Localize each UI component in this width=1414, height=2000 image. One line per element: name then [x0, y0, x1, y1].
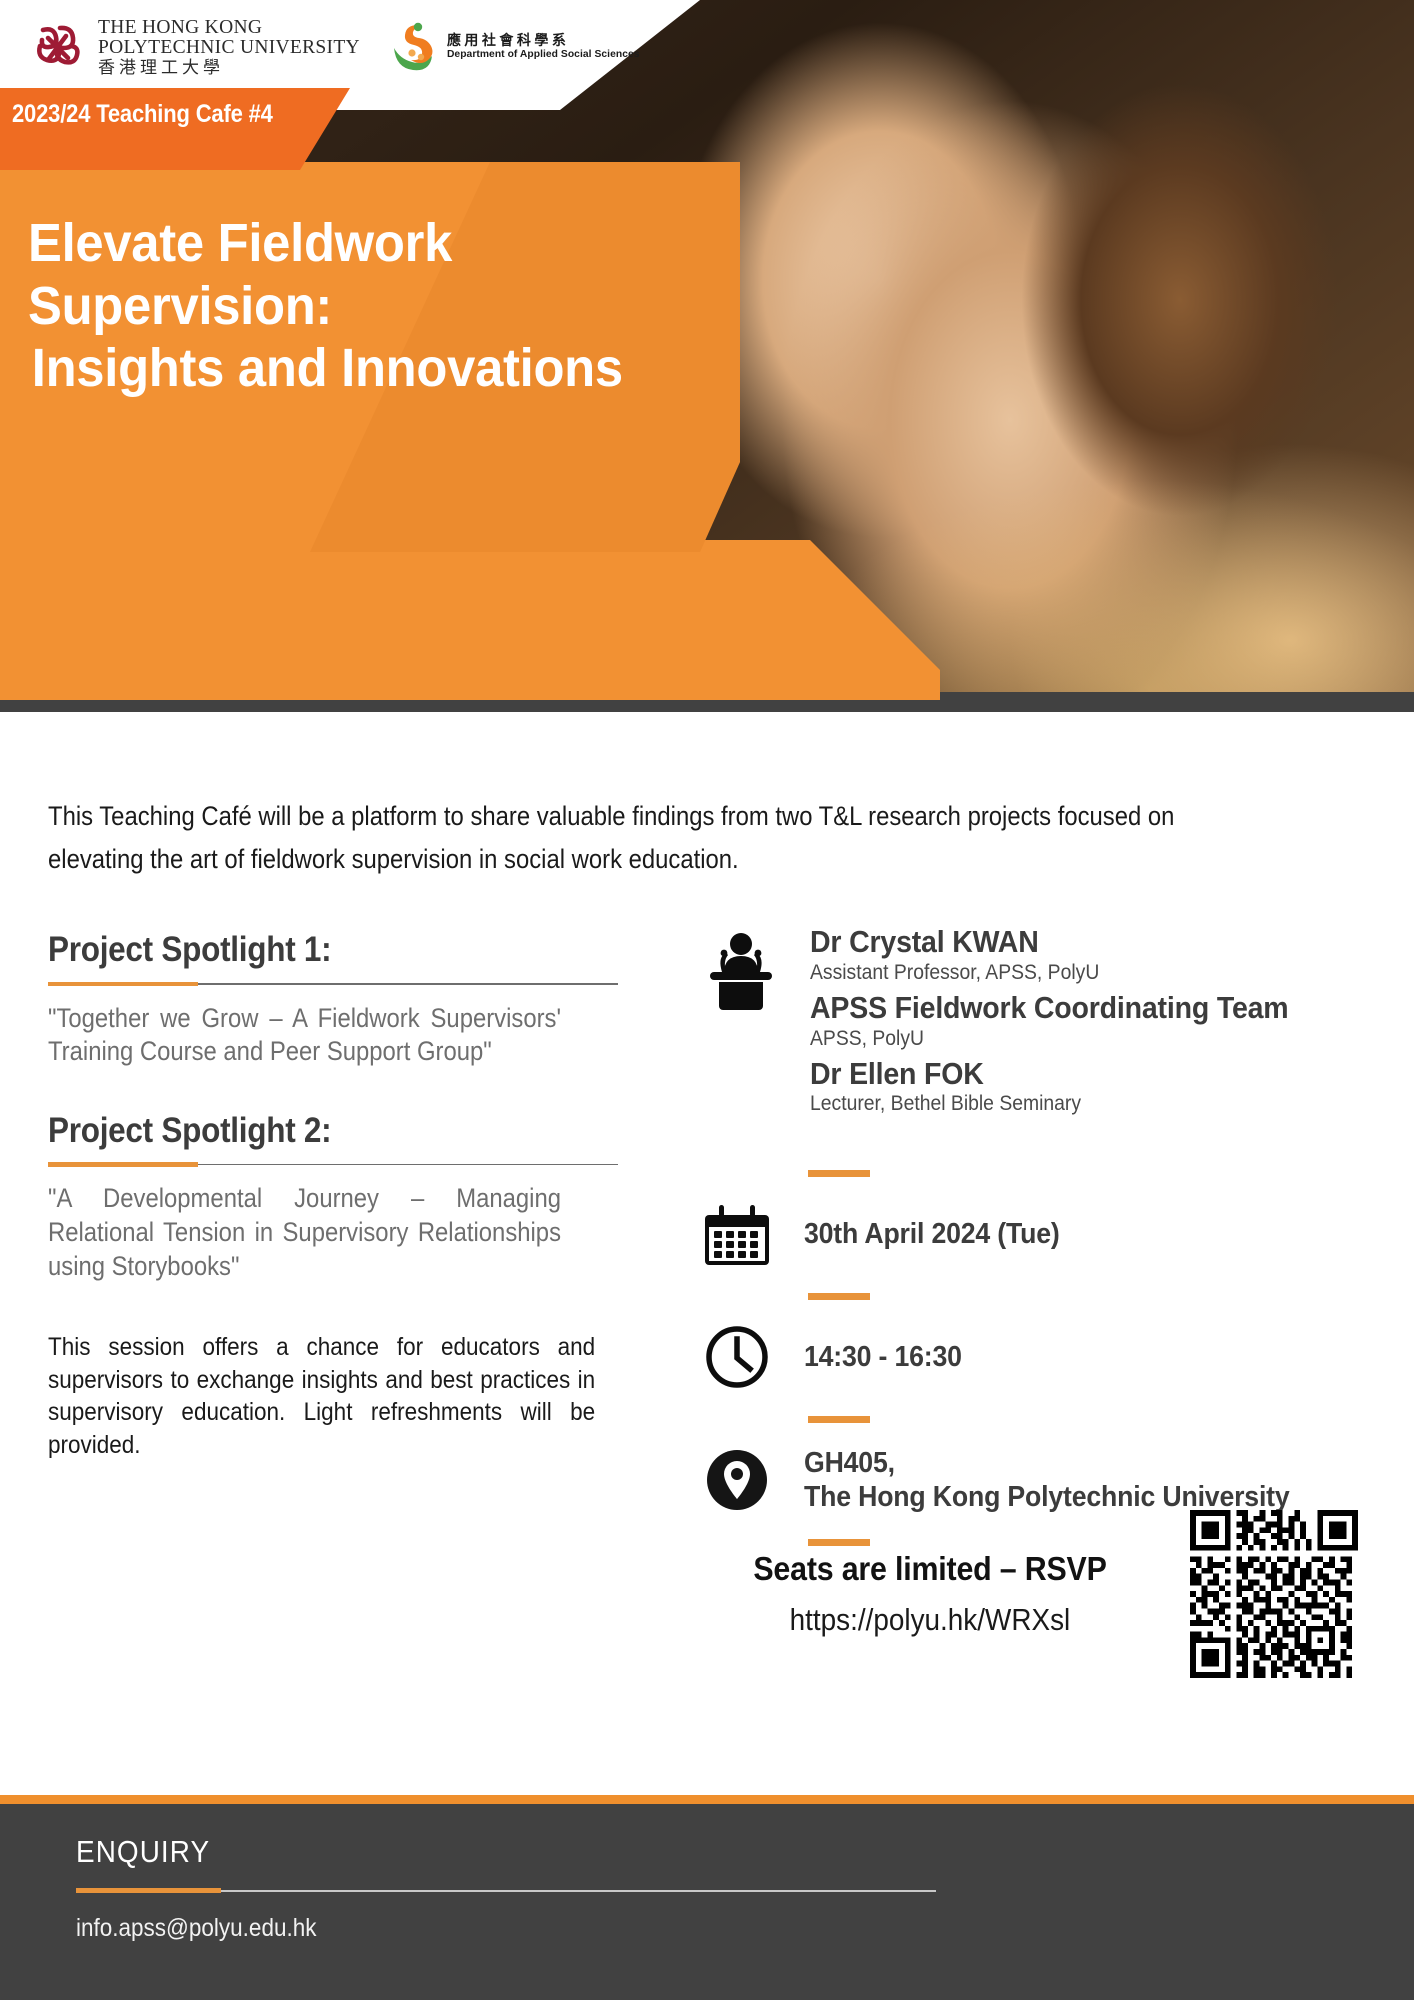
clock-icon — [700, 1320, 774, 1394]
detail-divider-tick — [808, 1293, 870, 1300]
apss-emblem-icon — [388, 22, 438, 74]
spotlight-1-body: "Together we Grow – A Fieldwork Supervis… — [48, 1002, 561, 1069]
series-label: 2023/24 Teaching Cafe #4 — [12, 100, 273, 129]
spotlight-2-group: Project Spotlight 2: "A Developmental Jo… — [48, 1111, 628, 1283]
footer-divider — [76, 1890, 936, 1892]
speakers-block: Dr Crystal KWAN Assistant Professor, APS… — [700, 926, 1330, 1116]
apss-logo: 應用社會科學系 Department of Applied Social Sci… — [388, 22, 640, 74]
speaker-role: APSS, PolyU — [810, 1026, 1278, 1051]
speaker-list: Dr Crystal KWAN Assistant Professor, APS… — [810, 926, 1330, 1116]
apss-name-chinese: 應用社會科學系 — [447, 34, 640, 49]
poster-root: Elevate Fieldwork Supervision: Insights … — [0, 0, 1414, 2000]
spotlight-1-heading: Project Spotlight 1: — [48, 930, 570, 970]
speaker-entry: APSS Fieldwork Coordinating Team APSS, P… — [810, 992, 1330, 1051]
event-venue-line-1: GH405, — [804, 1446, 1290, 1480]
speaker-name: Dr Crystal KWAN — [810, 926, 1288, 959]
hero-title-line-1: Elevate Fieldwork — [28, 212, 648, 275]
event-details-block: 30th April 2024 (Tue) 14:30 - 16:30 — [700, 1170, 1332, 1566]
spotlight-2-body: "A Developmental Journey – Managing Rela… — [48, 1182, 561, 1283]
polyu-name-line-2: POLYTECHNIC UNIVERSITY — [98, 38, 360, 58]
closing-paragraph: This session offers a chance for educato… — [48, 1331, 595, 1461]
detail-divider-tick — [808, 1416, 870, 1423]
hero-title-line-3: Insights and Innovations — [28, 337, 648, 400]
polyu-knot-icon — [30, 20, 86, 76]
hero-section: Elevate Fieldwork Supervision: Insights … — [0, 0, 1414, 712]
rsvp-block: Seats are limited – RSVP https://polyu.h… — [720, 1510, 1414, 1678]
hero-title: Elevate Fieldwork Supervision: Insights … — [28, 212, 648, 400]
footer-email[interactable]: info.apss@polyu.edu.hk — [76, 1914, 316, 1943]
polyu-logo: THE HONG KONG POLYTECHNIC UNIVERSITY 香港理… — [30, 18, 360, 77]
detail-row-time: 14:30 - 16:30 — [700, 1320, 1332, 1394]
rsvp-texts: Seats are limited – RSVP https://polyu.h… — [720, 1510, 1140, 1638]
polyu-name-chinese: 香港理工大學 — [98, 60, 360, 77]
speaker-name: Dr Ellen FOK — [810, 1058, 1288, 1091]
event-time: 14:30 - 16:30 — [804, 1340, 962, 1374]
detail-row-venue: GH405, The Hong Kong Polytechnic Univers… — [700, 1443, 1332, 1517]
detail-row-date: 30th April 2024 (Tue) — [700, 1197, 1332, 1271]
speaker-name: APSS Fieldwork Coordinating Team — [810, 992, 1288, 1025]
rsvp-url-link[interactable]: https://polyu.hk/WRXsl — [790, 1602, 1071, 1638]
detail-divider-tick — [808, 1170, 870, 1177]
location-pin-icon — [700, 1443, 774, 1517]
speaker-role: Assistant Professor, APSS, PolyU — [810, 960, 1278, 985]
intro-paragraph: This Teaching Café will be a platform to… — [48, 795, 1200, 881]
apss-name-english: Department of Applied Social Sciences — [447, 50, 640, 61]
spotlight-1-divider — [48, 983, 618, 985]
left-column: Project Spotlight 1: "Together we Grow –… — [48, 930, 628, 1461]
speaker-role: Lecturer, Bethel Bible Seminary — [810, 1091, 1278, 1116]
calendar-icon — [700, 1197, 774, 1271]
spotlight-2-heading: Project Spotlight 2: — [48, 1111, 570, 1151]
apss-wordmark: 應用社會科學系 Department of Applied Social Sci… — [447, 34, 640, 61]
body-section: This Teaching Café will be a platform to… — [0, 760, 1414, 1800]
podium-speaker-icon — [700, 932, 782, 1010]
rsvp-heading: Seats are limited – RSVP — [753, 1550, 1106, 1588]
orange-wedge-decoration — [0, 540, 940, 700]
polyu-wordmark: THE HONG KONG POLYTECHNIC UNIVERSITY 香港理… — [98, 18, 360, 77]
event-date: 30th April 2024 (Tue) — [804, 1217, 1060, 1251]
event-venue: GH405, The Hong Kong Polytechnic Univers… — [804, 1446, 1290, 1514]
polyu-name-line-1: THE HONG KONG — [98, 18, 360, 38]
spotlight-2-divider — [48, 1164, 618, 1166]
footer-title: ENQUIRY — [76, 1834, 210, 1870]
speaker-entry: Dr Crystal KWAN Assistant Professor, APS… — [810, 926, 1330, 985]
footer-section: ENQUIRY info.apss@polyu.edu.hk — [0, 1804, 1414, 2000]
qr-code[interactable] — [1190, 1510, 1358, 1678]
logo-row: THE HONG KONG POLYTECHNIC UNIVERSITY 香港理… — [30, 18, 640, 77]
speaker-entry: Dr Ellen FOK Lecturer, Bethel Bible Semi… — [810, 1058, 1330, 1117]
hero-title-line-2: Supervision: — [28, 275, 648, 338]
